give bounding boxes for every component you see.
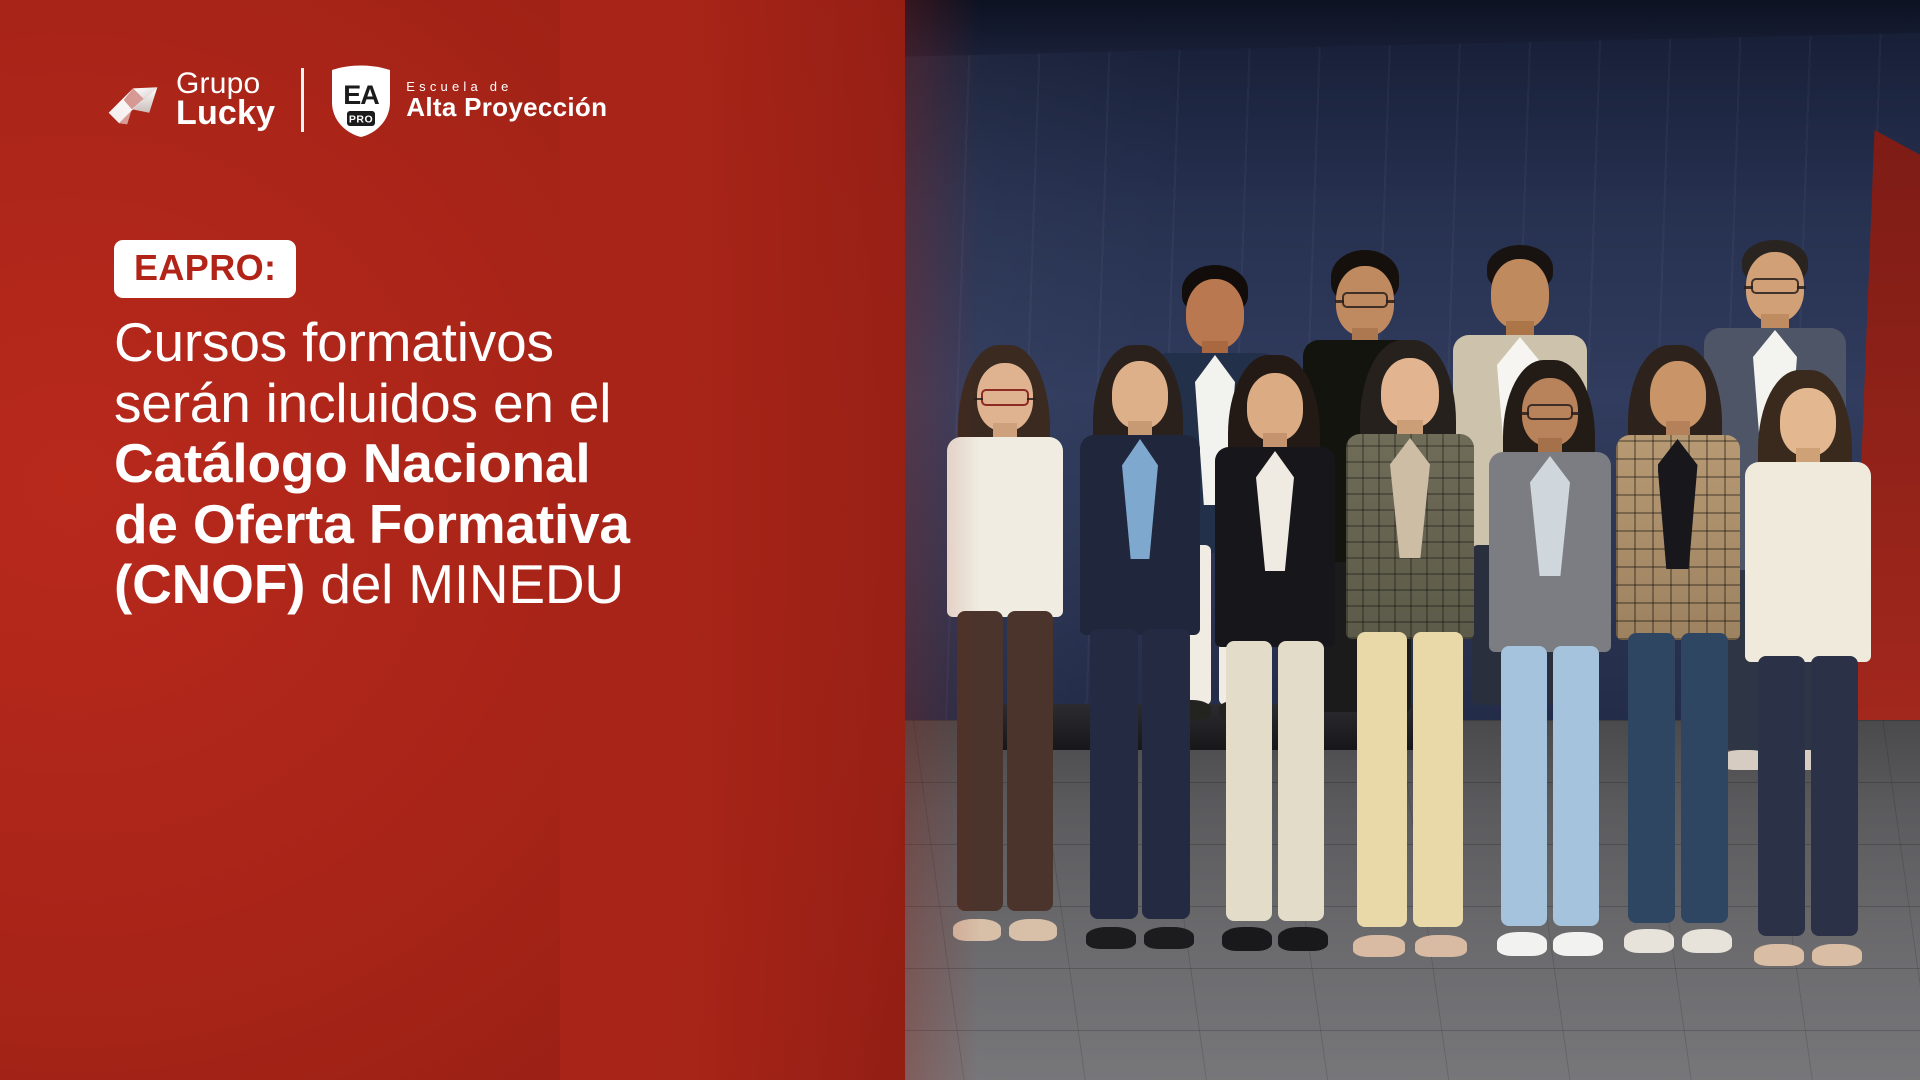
cube-diamond-icon <box>104 71 162 129</box>
legs <box>1355 632 1465 957</box>
legs <box>1756 656 1860 966</box>
logo-bar: Grupo Lucky EA PRO Escuela de Alta Proye… <box>104 64 607 136</box>
head <box>1186 279 1244 349</box>
grupo-lucky-logo[interactable]: Grupo Lucky <box>104 70 275 129</box>
headline-minedu: del MINEDU <box>305 553 624 615</box>
logo-divider <box>301 68 304 132</box>
head <box>1650 361 1706 429</box>
glasses-icon <box>1751 278 1799 294</box>
person-front-4 <box>1330 340 1490 960</box>
legs <box>1224 641 1326 951</box>
legs <box>1499 646 1601 956</box>
shield-icon: EA PRO <box>330 64 392 136</box>
eapro-line1: Escuela de <box>406 80 607 93</box>
head <box>1112 361 1168 429</box>
grupo-lucky-wordmark: Grupo Lucky <box>176 70 275 129</box>
headline-line-4: de Oferta Formativa <box>114 494 754 555</box>
lucky-line2: Lucky <box>176 97 275 130</box>
person-front-2 <box>1065 345 1215 955</box>
headline-line-1: Cursos formativos <box>114 312 754 373</box>
eapro-line2: Alta Proyección <box>406 94 607 121</box>
glasses-icon <box>981 389 1029 406</box>
head <box>1247 373 1303 441</box>
eapro-logo[interactable]: EA PRO Escuela de Alta Proyección <box>330 64 607 136</box>
headline-cnof: (CNOF) <box>114 553 305 615</box>
head <box>1780 388 1836 456</box>
person-front-7 <box>1730 370 1885 970</box>
person-front-3 <box>1200 355 1350 955</box>
headline-line-2: serán incluidos en el <box>114 373 754 434</box>
legs <box>1626 633 1730 953</box>
torso <box>1745 462 1871 662</box>
headline-line-3: Catálogo Nacional <box>114 433 754 494</box>
glasses-icon <box>1527 404 1573 420</box>
eapro-wordmark: Escuela de Alta Proyección <box>406 80 607 121</box>
banner-root: Grupo Lucky EA PRO Escuela de Alta Proye… <box>0 0 1920 1080</box>
head <box>1381 358 1439 428</box>
svg-text:EA: EA <box>344 80 380 110</box>
head <box>1491 259 1549 329</box>
glasses-icon <box>1342 292 1388 308</box>
svg-text:PRO: PRO <box>349 114 373 126</box>
headline-block: EAPRO: Cursos formativos serán incluidos… <box>114 240 754 615</box>
legs <box>1088 629 1192 949</box>
eapro-badge: EAPRO: <box>114 240 296 298</box>
headline-line-5: (CNOF) del MINEDU <box>114 554 754 615</box>
